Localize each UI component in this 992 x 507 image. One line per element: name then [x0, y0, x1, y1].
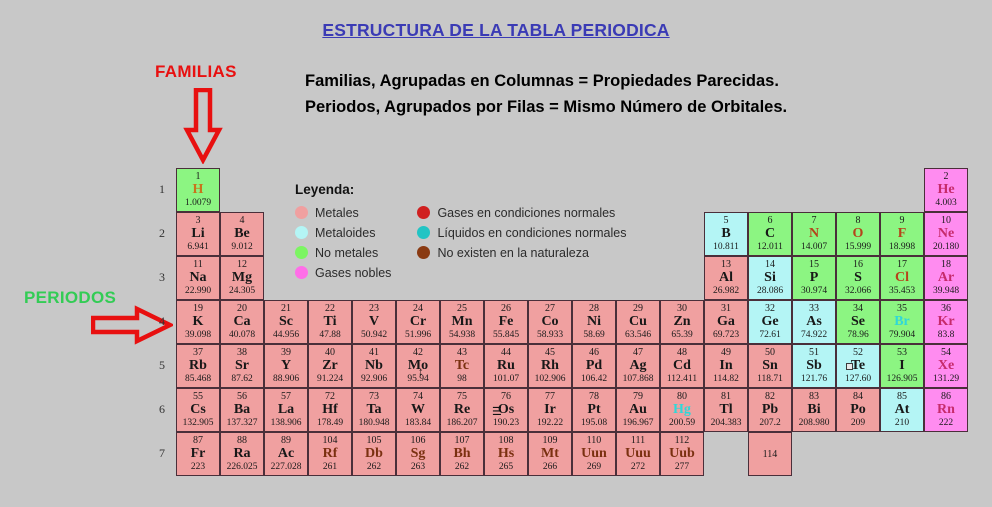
element-atomic-number: 40 — [325, 347, 335, 358]
element-atomic-number: 22 — [325, 303, 335, 314]
element-atomic-mass: 226.025 — [227, 462, 258, 473]
element-atomic-number: 105 — [367, 435, 382, 446]
element-cell[interactable]: 8O15.999 — [836, 212, 880, 256]
element-symbol: Xe — [938, 358, 954, 374]
element-cell[interactable]: 50Sn118.71 — [748, 344, 792, 388]
element-atomic-mass: 91.224 — [317, 374, 343, 385]
element-cell[interactable]: 114 — [748, 432, 792, 476]
element-cell[interactable]: 17Cl35.453 — [880, 256, 924, 300]
periodic-table-grid: 12345671H1.00792He4.0033Li6.9414Be9.0125… — [0, 0, 992, 507]
element-atomic-number: 50 — [765, 347, 775, 358]
element-cell[interactable]: 110Uun269 — [572, 432, 616, 476]
element-atomic-mass: 112.411 — [667, 374, 697, 385]
element-atomic-mass: 4.003 — [935, 198, 956, 209]
element-atomic-mass: 262 — [455, 462, 469, 473]
element-atomic-mass: 204.383 — [711, 418, 742, 429]
element-atomic-number: 34 — [853, 303, 863, 314]
element-atomic-number: 25 — [457, 303, 467, 314]
element-cell[interactable]: 51Sb121.76 — [792, 344, 836, 388]
element-symbol: S — [854, 270, 862, 286]
period-row-label: 5 — [155, 358, 169, 373]
element-atomic-number: 109 — [543, 435, 558, 446]
element-symbol: Co — [541, 314, 558, 330]
element-atomic-number: 82 — [765, 391, 775, 402]
element-atomic-number: 111 — [631, 435, 645, 446]
element-cell[interactable]: 25Mn54.938 — [440, 300, 484, 344]
element-cell[interactable]: 54Xe131.29 — [924, 344, 968, 388]
element-atomic-mass: 102.906 — [535, 374, 566, 385]
element-symbol: Cs — [190, 402, 206, 418]
element-atomic-mass: 121.76 — [801, 374, 827, 385]
element-symbol: Ac — [278, 446, 294, 462]
element-cell[interactable]: 36Kr83.8 — [924, 300, 968, 344]
element-symbol: Br — [894, 314, 910, 330]
element-atomic-number: 24 — [413, 303, 423, 314]
element-cell[interactable]: 88Ra226.025 — [220, 432, 264, 476]
element-atomic-mass: 15.999 — [845, 242, 871, 253]
element-atomic-mass: 261 — [323, 462, 337, 473]
element-atomic-mass: 63.546 — [625, 330, 651, 341]
element-atomic-mass: 98 — [457, 374, 467, 385]
element-atomic-number: 48 — [677, 347, 687, 358]
element-symbol: Y — [281, 358, 291, 374]
element-cell[interactable]: 53I126.905 — [880, 344, 924, 388]
element-atomic-number: 26 — [501, 303, 511, 314]
element-symbol: N — [809, 226, 819, 242]
element-cell[interactable]: 56Ba137.327 — [220, 388, 264, 432]
element-atomic-number: 46 — [589, 347, 599, 358]
element-symbol: In — [719, 358, 732, 374]
element-atomic-number: 44 — [501, 347, 511, 358]
element-atomic-mass: 183.84 — [405, 418, 431, 429]
element-symbol: Cd — [673, 358, 691, 374]
element-atomic-mass: 32.066 — [845, 286, 871, 297]
element-cell[interactable]: 73Ta180.948 — [352, 388, 396, 432]
element-atomic-mass: 277 — [675, 462, 689, 473]
element-atomic-mass: 83.8 — [938, 330, 955, 341]
element-atomic-mass: 39.948 — [933, 286, 959, 297]
element-cell[interactable]: 47Ag107.868 — [616, 344, 660, 388]
element-atomic-mass: 209 — [851, 418, 865, 429]
element-atomic-number: 17 — [897, 259, 907, 270]
element-symbol: Rh — [541, 358, 559, 374]
element-atomic-mass: 88.906 — [273, 374, 299, 385]
element-atomic-number: 1 — [196, 171, 201, 182]
element-symbol: Uuu — [625, 446, 651, 462]
element-cell[interactable]: 18Ar39.948 — [924, 256, 968, 300]
element-cell[interactable]: 43Tc98 — [440, 344, 484, 388]
element-cell[interactable]: 89Ac227.028 — [264, 432, 308, 476]
element-symbol: Zn — [673, 314, 690, 330]
element-atomic-number: 8 — [856, 215, 861, 226]
element-atomic-number: 16 — [853, 259, 863, 270]
element-atomic-number: 10 — [941, 215, 951, 226]
element-atomic-mass: 190.23 — [493, 418, 519, 429]
element-symbol: He — [937, 182, 954, 198]
element-symbol: Pd — [586, 358, 602, 374]
element-symbol: Hg — [673, 402, 691, 418]
element-atomic-mass: 69.723 — [713, 330, 739, 341]
element-symbol: Ne — [938, 226, 954, 242]
element-atomic-number: 21 — [281, 303, 291, 314]
element-cell[interactable]: 3Li6.941 — [176, 212, 220, 256]
element-atomic-mass: 200.59 — [669, 418, 695, 429]
element-cell[interactable]: 37Rb85.468 — [176, 344, 220, 388]
element-symbol: Te — [851, 358, 865, 374]
element-atomic-mass: 44.956 — [273, 330, 299, 341]
element-cell[interactable]: 31Ga69.723 — [704, 300, 748, 344]
element-symbol: At — [895, 402, 910, 418]
element-cell[interactable]: 85At210 — [880, 388, 924, 432]
element-symbol: W — [411, 402, 425, 418]
element-cell[interactable]: 40Zr91.224 — [308, 344, 352, 388]
element-atomic-mass: 195.08 — [581, 418, 607, 429]
element-atomic-mass: 35.453 — [889, 286, 915, 297]
element-atomic-number: 32 — [765, 303, 775, 314]
element-symbol: Al — [719, 270, 733, 286]
element-symbol: H — [193, 182, 204, 198]
element-atomic-number: 114 — [763, 449, 778, 460]
element-cell[interactable]: 107Bh262 — [440, 432, 484, 476]
element-cell[interactable]: 81Tl204.383 — [704, 388, 748, 432]
element-atomic-number: 39 — [281, 347, 291, 358]
element-atomic-mass: 114.82 — [713, 374, 739, 385]
element-cell[interactable]: 104Rf261 — [308, 432, 352, 476]
element-atomic-mass: 272 — [631, 462, 645, 473]
element-cell[interactable]: 23V50.942 — [352, 300, 396, 344]
period-row-label: 7 — [155, 446, 169, 461]
element-atomic-mass: 12.011 — [757, 242, 783, 253]
element-cell[interactable]: 39Y88.906 — [264, 344, 308, 388]
element-atomic-number: 110 — [587, 435, 602, 446]
element-symbol: Ti — [324, 314, 337, 330]
period-row-label: 3 — [155, 270, 169, 285]
element-cell[interactable]: 79Au196.967 — [616, 388, 660, 432]
element-cell[interactable]: 75Re186.207 — [440, 388, 484, 432]
element-cell[interactable]: 72Hf178.49 — [308, 388, 352, 432]
element-cell[interactable]: 34Se78.96 — [836, 300, 880, 344]
element-atomic-mass: 6.941 — [187, 242, 208, 253]
element-atomic-mass: 51.996 — [405, 330, 431, 341]
element-symbol: Fe — [499, 314, 514, 330]
element-atomic-mass: 265 — [499, 462, 513, 473]
element-cell[interactable]: 19K39.098 — [176, 300, 220, 344]
element-atomic-number: 53 — [897, 347, 907, 358]
element-atomic-number: 77 — [545, 391, 555, 402]
element-symbol: Ni — [587, 314, 601, 330]
element-symbol: Fr — [191, 446, 206, 462]
element-symbol: Pb — [762, 402, 778, 418]
element-atomic-number: 55 — [193, 391, 203, 402]
element-cell[interactable]: 111Uuu272 — [616, 432, 660, 476]
element-cell[interactable]: 57La138.906 — [264, 388, 308, 432]
element-atomic-number: 47 — [633, 347, 643, 358]
element-atomic-number: 37 — [193, 347, 203, 358]
drag-grip-icon[interactable]: ☰ — [492, 405, 502, 418]
element-cell[interactable]: 46Pd106.42 — [572, 344, 616, 388]
element-atomic-mass: 180.948 — [359, 418, 390, 429]
element-atomic-number: 5 — [724, 215, 729, 226]
period-row-label: 1 — [155, 182, 169, 197]
element-atomic-number: 27 — [545, 303, 555, 314]
element-atomic-mass: 208.980 — [799, 418, 830, 429]
element-atomic-number: 7 — [812, 215, 817, 226]
element-symbol: Sr — [235, 358, 249, 374]
element-atomic-number: 75 — [457, 391, 467, 402]
element-cell[interactable]: 9F18.998 — [880, 212, 924, 256]
element-symbol: V — [369, 314, 379, 330]
element-atomic-mass: 107.868 — [623, 374, 654, 385]
element-atomic-number: 89 — [281, 435, 291, 446]
element-cell[interactable]: 5B10.811 — [704, 212, 748, 256]
element-symbol: Tc — [455, 358, 469, 374]
element-symbol: Po — [850, 402, 866, 418]
element-atomic-mass: 85.468 — [185, 374, 211, 385]
element-atomic-mass: 178.49 — [317, 418, 343, 429]
element-atomic-number: 35 — [897, 303, 907, 314]
element-atomic-number: 4 — [240, 215, 245, 226]
element-cell[interactable]: 11Na22.990 — [176, 256, 220, 300]
element-atomic-mass: 101.07 — [493, 374, 519, 385]
element-symbol: Sc — [279, 314, 293, 330]
element-symbol: Ru — [497, 358, 515, 374]
element-cell[interactable]: 14Si28.086 — [748, 256, 792, 300]
element-cell[interactable]: 29Cu63.546 — [616, 300, 660, 344]
element-cell[interactable]: 12Mg24.305 — [220, 256, 264, 300]
element-cell[interactable]: 78Pt195.08 — [572, 388, 616, 432]
element-cell[interactable]: 41Nb92.906 — [352, 344, 396, 388]
element-atomic-number: 2 — [944, 171, 949, 182]
element-cell[interactable]: 55Cs132.905 — [176, 388, 220, 432]
element-cell[interactable]: 26Fe55.845 — [484, 300, 528, 344]
element-symbol: Zr — [322, 358, 338, 374]
element-cell[interactable]: 4Be9.012 — [220, 212, 264, 256]
element-symbol: Ca — [233, 314, 250, 330]
element-symbol: Sn — [762, 358, 778, 374]
element-cell[interactable]: 82Pb207.2 — [748, 388, 792, 432]
element-cell[interactable]: 21Sc44.956 — [264, 300, 308, 344]
element-atomic-mass: 54.938 — [449, 330, 475, 341]
element-symbol: Hf — [322, 402, 338, 418]
element-symbol: Uub — [669, 446, 695, 462]
element-atomic-number: 78 — [589, 391, 599, 402]
element-cell[interactable]: 6C12.011 — [748, 212, 792, 256]
element-symbol: Ta — [366, 402, 381, 418]
element-atomic-mass: 78.96 — [847, 330, 868, 341]
element-atomic-mass: 14.007 — [801, 242, 827, 253]
element-symbol: Uun — [581, 446, 607, 462]
element-atomic-mass: 40.078 — [229, 330, 255, 341]
element-cell[interactable]: 112Uub277 — [660, 432, 704, 476]
element-cell[interactable]: 30Zn65.39 — [660, 300, 704, 344]
element-atomic-number: 9 — [900, 215, 905, 226]
element-cell[interactable]: 106Sg263 — [396, 432, 440, 476]
element-atomic-mass: 118.71 — [757, 374, 783, 385]
element-atomic-mass: 10.811 — [713, 242, 739, 253]
element-atomic-mass: 1.0079 — [185, 198, 211, 209]
element-atomic-number: 30 — [677, 303, 687, 314]
resize-grip-icon[interactable]: ↕ — [418, 366, 424, 378]
element-atomic-mass: 131.29 — [933, 374, 959, 385]
element-atomic-number: 52 — [853, 347, 863, 358]
element-atomic-number: 73 — [369, 391, 379, 402]
element-symbol: Cr — [410, 314, 426, 330]
element-symbol: As — [806, 314, 822, 330]
element-atomic-number: 57 — [281, 391, 291, 402]
element-atomic-mass: 58.933 — [537, 330, 563, 341]
element-atomic-number: 76 — [501, 391, 511, 402]
element-cell[interactable]: 13Al26.982 — [704, 256, 748, 300]
element-atomic-mass: 192.22 — [537, 418, 563, 429]
element-symbol: Rf — [323, 446, 338, 462]
element-cell[interactable]: 38Sr87.62 — [220, 344, 264, 388]
element-atomic-number: 106 — [411, 435, 426, 446]
element-atomic-number: 80 — [677, 391, 687, 402]
element-symbol: F — [898, 226, 907, 242]
element-atomic-number: 41 — [369, 347, 379, 358]
element-atomic-number: 84 — [853, 391, 863, 402]
element-atomic-mass: 210 — [895, 418, 909, 429]
element-atomic-number: 74 — [413, 391, 423, 402]
element-cell[interactable]: 32Ge72.61 — [748, 300, 792, 344]
element-cell[interactable]: 16S32.066 — [836, 256, 880, 300]
element-cell[interactable]: 27Co58.933 — [528, 300, 572, 344]
element-symbol: Nb — [365, 358, 383, 374]
element-atomic-number: 51 — [809, 347, 819, 358]
element-atomic-number: 31 — [721, 303, 731, 314]
element-symbol: P — [810, 270, 819, 286]
element-atomic-number: 12 — [237, 259, 247, 270]
element-atomic-mass: 266 — [543, 462, 557, 473]
element-atomic-number: 43 — [457, 347, 467, 358]
element-atomic-number: 72 — [325, 391, 335, 402]
element-cell[interactable]: 24Cr51.996 — [396, 300, 440, 344]
element-atomic-number: 19 — [193, 303, 203, 314]
element-symbol: Cl — [895, 270, 909, 286]
element-atomic-number: 85 — [897, 391, 907, 402]
element-cell[interactable]: 22Ti47.88 — [308, 300, 352, 344]
element-symbol: Ra — [233, 446, 250, 462]
element-atomic-number: 56 — [237, 391, 247, 402]
element-symbol: Be — [234, 226, 250, 242]
element-cell[interactable]: 87Fr223 — [176, 432, 220, 476]
element-atomic-mass: 30.974 — [801, 286, 827, 297]
element-cell[interactable]: 84Po209 — [836, 388, 880, 432]
element-atomic-mass: 20.180 — [933, 242, 959, 253]
element-atomic-number: 14 — [765, 259, 775, 270]
period-row-label: 6 — [155, 402, 169, 417]
element-cell[interactable]: 33As74.922 — [792, 300, 836, 344]
element-cell[interactable]: 80Hg200.59 — [660, 388, 704, 432]
element-atomic-mass: 207.2 — [759, 418, 780, 429]
element-cell[interactable]: 44Ru101.07 — [484, 344, 528, 388]
element-symbol: Rn — [937, 402, 955, 418]
element-atomic-mass: 127.60 — [845, 374, 871, 385]
element-cell[interactable]: 15P30.974 — [792, 256, 836, 300]
element-atomic-mass: 26.982 — [713, 286, 739, 297]
element-cell[interactable]: 48Cd112.411 — [660, 344, 704, 388]
element-atomic-number: 13 — [721, 259, 731, 270]
element-atomic-mass: 58.69 — [583, 330, 604, 341]
element-atomic-number: 45 — [545, 347, 555, 358]
element-atomic-mass: 39.098 — [185, 330, 211, 341]
element-atomic-number: 28 — [589, 303, 599, 314]
element-atomic-number: 49 — [721, 347, 731, 358]
element-symbol: Li — [191, 226, 204, 242]
element-symbol: Bi — [807, 402, 820, 418]
element-symbol: Na — [189, 270, 206, 286]
element-atomic-mass: 65.39 — [671, 330, 692, 341]
element-cell[interactable]: 105Db262 — [352, 432, 396, 476]
element-atomic-number: 42 — [413, 347, 423, 358]
element-atomic-number: 3 — [196, 215, 201, 226]
element-cell[interactable]: 7N14.007 — [792, 212, 836, 256]
element-atomic-mass: 47.88 — [319, 330, 340, 341]
element-cell[interactable]: 35Br79.904 — [880, 300, 924, 344]
element-atomic-mass: 222 — [939, 418, 953, 429]
element-symbol: Ar — [938, 270, 954, 286]
element-atomic-number: 112 — [675, 435, 690, 446]
element-symbol: Cu — [629, 314, 647, 330]
element-atomic-mass: 186.207 — [447, 418, 478, 429]
element-symbol: Tl — [719, 402, 732, 418]
element-cell[interactable]: 2He4.003 — [924, 168, 968, 212]
element-atomic-number: 6 — [768, 215, 773, 226]
element-cell[interactable]: 1H1.0079 — [176, 168, 220, 212]
element-atomic-number: 107 — [455, 435, 470, 446]
element-symbol: B — [721, 226, 730, 242]
element-cell[interactable]: 52Te127.60 — [836, 344, 880, 388]
element-cell[interactable]: 108Hs265 — [484, 432, 528, 476]
periodic-table-slide: ESTRUCTURA DE LA TABLA PERIODICA Familia… — [0, 0, 992, 507]
element-atomic-mass: 137.327 — [227, 418, 258, 429]
element-cell[interactable]: 28Ni58.69 — [572, 300, 616, 344]
element-cell[interactable]: 109Mt266 — [528, 432, 572, 476]
element-symbol: Bh — [453, 446, 470, 462]
element-cell[interactable]: 77Ir192.22 — [528, 388, 572, 432]
selection-handle-right[interactable] — [846, 363, 853, 370]
element-cell[interactable]: 49In114.82 — [704, 344, 748, 388]
element-atomic-number: 23 — [369, 303, 379, 314]
element-atomic-number: 33 — [809, 303, 819, 314]
element-atomic-number: 83 — [809, 391, 819, 402]
element-atomic-number: 11 — [193, 259, 203, 270]
element-cell[interactable]: 20Ca40.078 — [220, 300, 264, 344]
element-symbol: Ag — [629, 358, 646, 374]
element-symbol: Sb — [806, 358, 822, 374]
element-atomic-mass: 74.922 — [801, 330, 827, 341]
element-symbol: La — [278, 402, 294, 418]
element-atomic-mass: 72.61 — [759, 330, 780, 341]
element-atomic-mass: 106.42 — [581, 374, 607, 385]
element-atomic-mass: 126.905 — [887, 374, 918, 385]
element-symbol: Db — [365, 446, 383, 462]
element-atomic-mass: 269 — [587, 462, 601, 473]
element-symbol: I — [899, 358, 904, 374]
element-cell[interactable]: 10Ne20.180 — [924, 212, 968, 256]
element-cell[interactable]: 83Bi208.980 — [792, 388, 836, 432]
element-atomic-mass: 132.905 — [183, 418, 214, 429]
element-atomic-mass: 55.845 — [493, 330, 519, 341]
element-atomic-number: 108 — [499, 435, 514, 446]
element-cell[interactable]: 45Rh102.906 — [528, 344, 572, 388]
element-symbol: Au — [629, 402, 647, 418]
element-symbol: Pt — [587, 402, 600, 418]
element-cell[interactable]: 74W183.84 — [396, 388, 440, 432]
element-cell[interactable]: 86Rn222 — [924, 388, 968, 432]
element-atomic-mass: 79.904 — [889, 330, 915, 341]
element-cell[interactable]: 76Os190.23 — [484, 388, 528, 432]
